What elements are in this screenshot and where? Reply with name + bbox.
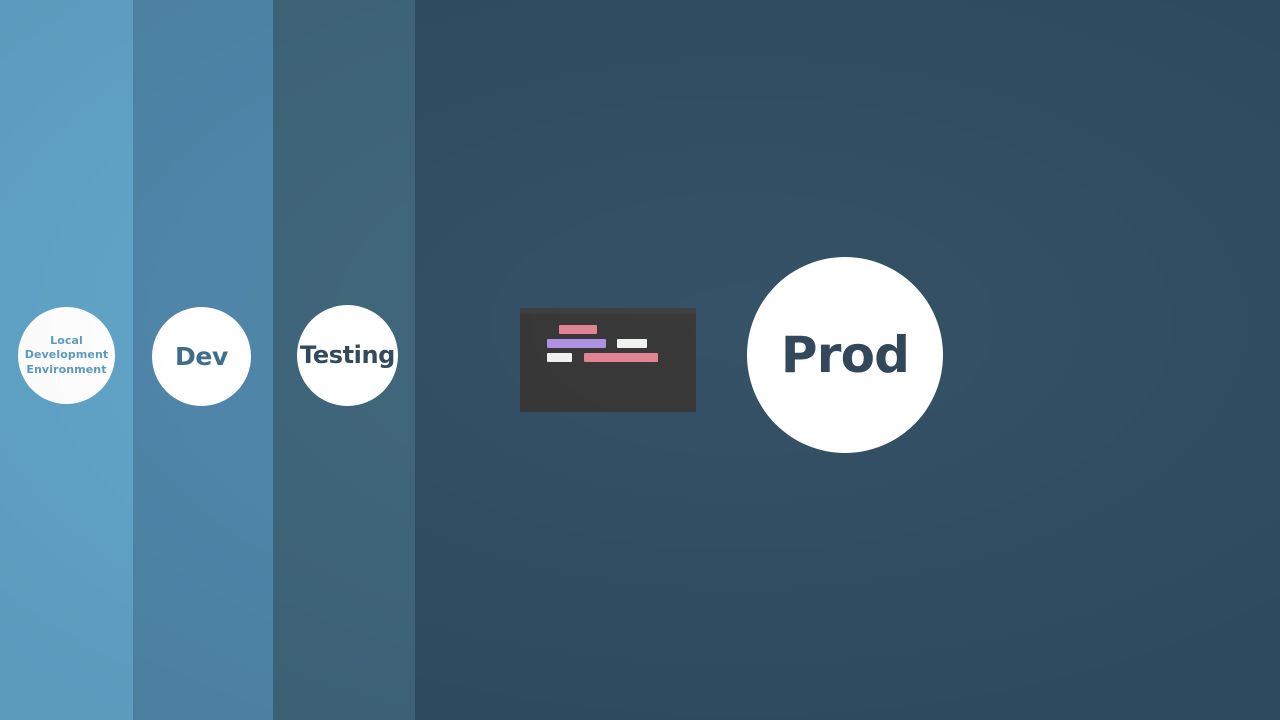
node-local-label: Local Development Environment <box>25 334 109 378</box>
code-panel-titlebar <box>520 308 696 314</box>
code-token-function <box>547 339 606 348</box>
node-local-label-line-2: Development <box>25 348 109 361</box>
node-dev[interactable]: Dev <box>152 307 251 406</box>
code-line-1 <box>559 325 597 334</box>
node-prod[interactable]: Prod <box>747 257 943 453</box>
code-snippet-panel <box>520 308 696 412</box>
node-local-development-environment[interactable]: Local Development Environment <box>18 307 115 404</box>
code-line-3 <box>547 353 658 362</box>
code-token-string <box>584 353 658 362</box>
node-local-label-line-1: Local <box>50 334 83 347</box>
node-dev-label: Dev <box>175 343 228 371</box>
code-token-plain-short <box>547 353 572 362</box>
node-local-label-line-3: Environment <box>26 363 106 376</box>
code-token-keyword <box>559 325 597 334</box>
node-prod-label: Prod <box>781 327 909 383</box>
code-token-plain <box>617 339 647 348</box>
pipeline-canvas: Local Development Environment Dev Testin… <box>0 0 1280 720</box>
code-line-2 <box>547 339 647 348</box>
node-testing[interactable]: Testing <box>297 305 398 406</box>
node-testing-label: Testing <box>300 342 395 369</box>
